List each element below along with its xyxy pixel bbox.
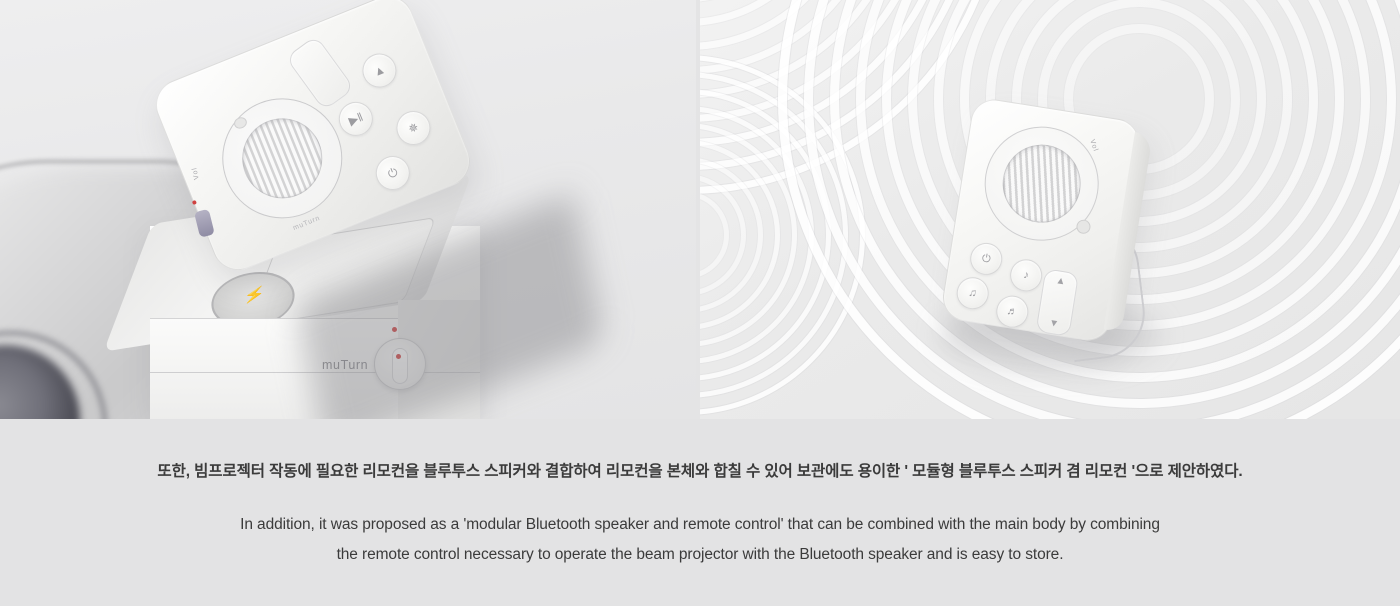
sound-button[interactable]: ♬ (994, 293, 1031, 330)
product-showcase-page: ⚡ muTurn Vol ▶‖ ▲ (0, 0, 1400, 606)
image-band: ⚡ muTurn Vol ▶‖ ▲ (0, 0, 1400, 419)
lightning-bolt-icon: ⚡ (242, 288, 266, 304)
caption-korean: 또한, 빔프로젝터 작동에 필요한 리모컨을 블루투스 스피커와 결합하여 리모… (0, 419, 1400, 483)
caption-block: 또한, 빔프로젝터 작동에 필요한 리모컨을 블루투스 스피커와 결합하여 리모… (0, 419, 1400, 606)
caption-english-line-1: In addition, it was proposed as a 'modul… (0, 510, 1400, 540)
power-button[interactable]: ⏻ (968, 241, 1005, 278)
microphone-icon (1075, 219, 1091, 235)
volume-button[interactable]: ▲ (357, 48, 401, 92)
bluetooth-button[interactable]: ✵ (391, 106, 435, 150)
bluetooth-button[interactable]: ♪ (1008, 257, 1045, 294)
power-button[interactable]: ⏻ (371, 151, 415, 195)
caption-english: In addition, it was proposed as a 'modul… (0, 483, 1400, 570)
panel-standing-speaker: Vol ⏻ ♪ ♫ ♬ ▲ ▼ (700, 0, 1400, 419)
mute-button[interactable]: ♫ (954, 275, 991, 312)
caption-english-line-2: the remote control necessary to operate … (0, 540, 1400, 570)
standing-speaker: Vol ⏻ ♪ ♫ ♬ ▲ ▼ (940, 96, 1143, 344)
panel-projector-dock: ⚡ muTurn Vol ▶‖ ▲ (0, 0, 696, 419)
speaker-brand-wordmark: muTurn (292, 215, 321, 232)
volume-up-icon[interactable]: ▲ (1044, 273, 1077, 289)
speaker-status-led (192, 200, 197, 205)
play-pause-button[interactable]: ▶‖ (334, 97, 378, 141)
volume-label: Vol (1088, 139, 1099, 153)
volume-rocker[interactable]: ▲ ▼ (1035, 268, 1079, 337)
volume-label: Vol (191, 166, 200, 180)
volume-down-icon[interactable]: ▼ (1037, 316, 1070, 332)
